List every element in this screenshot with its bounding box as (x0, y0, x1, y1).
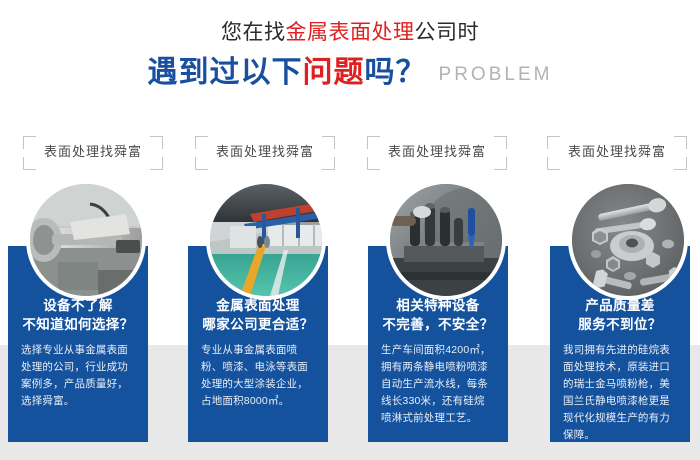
card-tag-badge: 表面处理找舜富 (547, 136, 687, 170)
card-heading-line-2: 哪家公司更合适？ (188, 315, 328, 334)
factory-workshop-photo (210, 184, 322, 296)
card-heading-line-1: 设备不了解 (8, 296, 148, 315)
problem-card[interactable]: 表面处理找舜富 产品质量差 服务不到位？ 我司拥有先进的硅烷表面处理技术，原装进… (525, 136, 695, 446)
card-heading-line-1: 相关特种设备 (368, 296, 508, 315)
card-heading-line-2: 不完善，不安全？ (368, 315, 508, 334)
card-tag-badge: 表面处理找舜富 (23, 136, 163, 170)
card-heading: 产品质量差 服务不到位？ (550, 296, 690, 334)
problem-cards-row: 表面处理找舜富 设备不了解 不知道如何选择？ 选择专业从事金属表面处理的公司，行… (0, 136, 700, 446)
card-body-text: 我司拥有先进的硅烷表面处理技术，原装进口的瑞士金马喷粉枪，美国兰氏静电喷漆枪更是… (563, 342, 677, 444)
card-body-text: 专业从事金属表面喷粉、喷漆、电泳等表面处理的大型涂装企业，占地面积8000㎡。 (201, 342, 315, 410)
spray-equipment-photo (390, 184, 502, 296)
headline-secondary: 遇到过以下问题吗？PROBLEM (0, 54, 700, 97)
headline-prefix: 您在找 (221, 21, 286, 44)
card-tag-label: 表面处理找舜富 (367, 143, 507, 161)
card-tag-label: 表面处理找舜富 (195, 143, 335, 161)
problem-card[interactable]: 表面处理找舜富 金属表面处理 哪家公司更合适？ 专业从事金属表面喷粉、喷漆、电泳… (180, 136, 350, 446)
lathe-machining-photo (30, 184, 142, 296)
headline-highlight: 金属表面处理 (286, 21, 415, 44)
card-heading-line-1: 金属表面处理 (188, 296, 328, 315)
card-tag-label: 表面处理找舜富 (23, 143, 163, 161)
problem-section: 您在找金属表面处理公司时 遇到过以下问题吗？PROBLEM 表面处理找舜富 设备… (0, 0, 700, 460)
card-tag-badge: 表面处理找舜富 (367, 136, 507, 170)
section-header: 您在找金属表面处理公司时 遇到过以下问题吗？PROBLEM (0, 18, 700, 97)
card-heading-line-1: 产品质量差 (550, 296, 690, 315)
card-body-text: 选择专业从事金属表面处理的公司，行业成功案例多，产品质量好，选择舜富。 (21, 342, 135, 410)
headline-primary: 您在找金属表面处理公司时 (0, 18, 700, 48)
card-tag-label: 表面处理找舜富 (547, 143, 687, 161)
card-heading: 金属表面处理 哪家公司更合适？ (188, 296, 328, 334)
metal-fasteners-photo (572, 184, 684, 296)
problem-card[interactable]: 表面处理找舜富 设备不了解 不知道如何选择？ 选择专业从事金属表面处理的公司，行… (8, 136, 178, 446)
card-heading: 设备不了解 不知道如何选择？ (8, 296, 148, 334)
headline2-english: PROBLEM (439, 64, 553, 85)
card-tag-badge: 表面处理找舜富 (195, 136, 335, 170)
card-body-text: 生产车间面积4200㎡，拥有两条静电喷粉喷漆自动生产流水线，每条线长330米，还… (381, 342, 495, 427)
card-heading: 相关特种设备 不完善，不安全？ (368, 296, 508, 334)
headline2-part1: 遇到过以下 (148, 56, 303, 89)
headline-suffix: 公司时 (415, 21, 480, 44)
headline2-part2: 吗？ (365, 56, 427, 89)
card-heading-line-2: 不知道如何选择？ (8, 315, 148, 334)
problem-card[interactable]: 表面处理找舜富 相关特种设备 不完善，不安全？ 生产车间面积4200㎡，拥有两条… (352, 136, 522, 446)
card-heading-line-2: 服务不到位？ (550, 315, 690, 334)
headline2-highlight: 问题 (303, 56, 365, 89)
